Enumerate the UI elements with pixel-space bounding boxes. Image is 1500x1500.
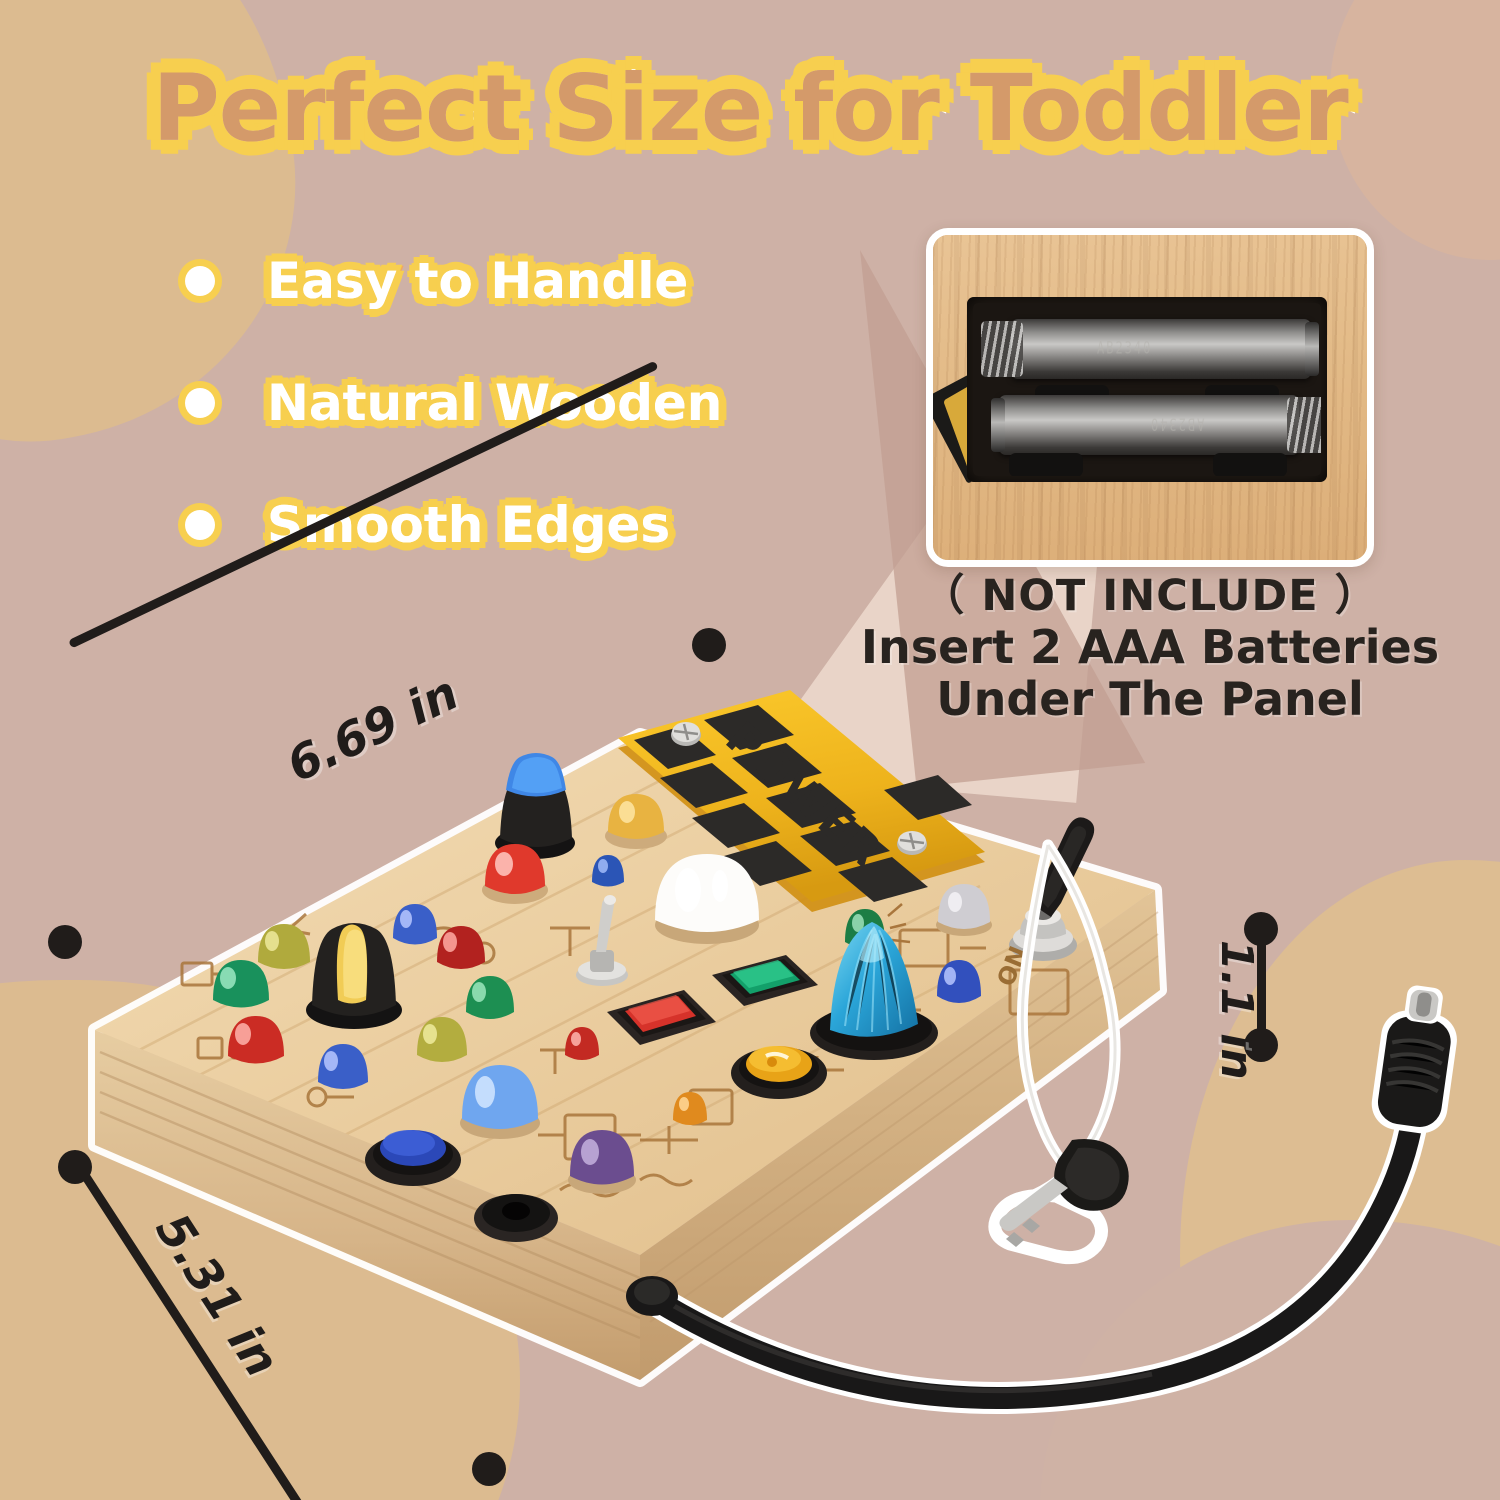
- plate-screw-top: [671, 722, 701, 746]
- dimension-height-label: 1.1 in: [1211, 940, 1262, 1080]
- dc-barrel-connector: [1368, 981, 1464, 1136]
- poster-canvas: Perfect Size for Toddler Perfect Size fo…: [0, 0, 1500, 1500]
- spare-key[interactable]: [995, 1139, 1129, 1258]
- plate-screw-bottom: [897, 831, 927, 855]
- dc-jack[interactable]: [474, 1194, 558, 1242]
